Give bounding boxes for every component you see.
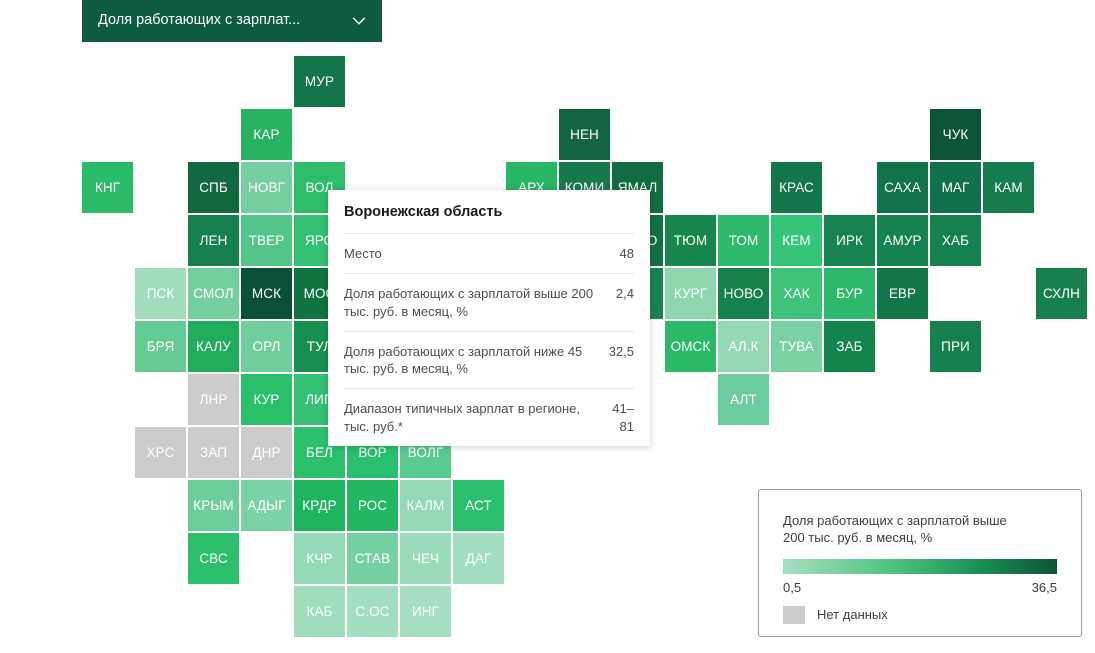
region-tile-label: СХЛН [1043,286,1080,301]
region-tile-КНГ[interactable]: КНГ [82,162,133,213]
region-tile-ПСК[interactable]: ПСК [135,268,186,319]
region-tile-АМУР[interactable]: АМУР [877,215,928,266]
region-tile-КАБ[interactable]: КАБ [294,586,345,637]
region-tile-label: С.ОС [355,604,389,619]
tooltip-row: Место48 [344,233,634,273]
region-tile-label: КАР [253,127,279,142]
legend-min-value: 0,5 [783,580,801,595]
region-tile-ТВЕР[interactable]: ТВЕР [241,215,292,266]
region-tile-label: ПРИ [941,339,970,354]
region-tile-label: ИРК [836,233,863,248]
region-tile-МАГ[interactable]: МАГ [930,162,981,213]
region-tile-label: БЕЛ [306,445,333,460]
region-tile-БРЯ[interactable]: БРЯ [135,321,186,372]
tooltip-row-key: Доля работающих с зарплатой выше 200 тыс… [344,285,604,320]
region-tile-label: КРЫМ [193,498,233,513]
region-tile-КАМ[interactable]: КАМ [983,162,1034,213]
region-tile-label: КРАС [779,180,814,195]
region-tile-label: ВОР [358,445,386,460]
region-tile-ХАБ[interactable]: ХАБ [930,215,981,266]
region-tile-ЧУК[interactable]: ЧУК [930,109,981,160]
region-tile-КУР[interactable]: КУР [241,374,292,425]
region-tile-АСТ[interactable]: АСТ [453,480,504,531]
region-tile-КЕМ[interactable]: КЕМ [771,215,822,266]
region-tile-label: МУР [305,74,334,89]
region-tile-ТУВА[interactable]: ТУВА [771,321,822,372]
region-tile-label: СВС [199,551,227,566]
region-tile-label: ПСК [147,286,175,301]
region-tile-НЕН[interactable]: НЕН [559,109,610,160]
tilemap-page: Доля работающих с зарплат... МУРНЕНЧУККА… [0,0,1095,653]
tooltip-rows: Место48Доля работающих с зарплатой выше … [344,233,634,446]
region-tile-СВС[interactable]: СВС [188,533,239,584]
region-tile-label: МАГ [942,180,970,195]
region-tile-ХРС[interactable]: ХРС [135,427,186,478]
region-tile-ХАК[interactable]: ХАК [771,268,822,319]
region-tile-label: КАЛУ [196,339,231,354]
region-tile-label: ТВЕР [249,233,285,248]
region-tile-КАЛМ[interactable]: КАЛМ [400,480,451,531]
region-tile-ЗАБ[interactable]: ЗАБ [824,321,875,372]
region-tile-label: БРЯ [147,339,175,354]
region-tile-ОМСК[interactable]: ОМСК [665,321,716,372]
legend-title: Доля работающих с зарплатой выше 200 тыс… [783,512,1057,547]
tooltip-row: Доля работающих с зарплатой выше 200 тыс… [344,273,634,331]
region-tile-НОВО[interactable]: НОВО [718,268,769,319]
legend-max-value: 36,5 [1032,580,1057,595]
region-tile-label: МСК [252,286,281,301]
region-tile-label: КЧР [306,551,332,566]
region-tile-ИРК[interactable]: ИРК [824,215,875,266]
region-tile-label: СМОЛ [193,286,233,301]
region-tile-label: ХРС [147,445,175,460]
region-tile-label: АДЫГ [247,498,285,513]
region-tile-КЧР[interactable]: КЧР [294,533,345,584]
region-tile-СТАВ[interactable]: СТАВ [347,533,398,584]
tooltip-row-value: 41– 81 [612,400,634,435]
region-tile-label: АЛТ [730,392,757,407]
region-tile-label: НОВО [724,286,764,301]
region-tile-СМОЛ[interactable]: СМОЛ [188,268,239,319]
map-legend: Доля работающих с зарплатой выше 200 тыс… [758,489,1082,637]
region-tile-label: ВОЛГ [408,445,443,460]
region-tile-МУР[interactable]: МУР [294,56,345,107]
region-tile-label: КЕМ [782,233,810,248]
tooltip-row-key: Диапазон типичных зарплат в регионе, тыс… [344,400,600,435]
region-tile-label: НЕН [570,127,599,142]
region-tile-ОРЛ[interactable]: ОРЛ [241,321,292,372]
region-tile-label: ЧЕЧ [412,551,439,566]
region-tile-ТЮМ[interactable]: ТЮМ [665,215,716,266]
tooltip-title: Воронежская область [344,190,634,233]
region-tile-ДАГ[interactable]: ДАГ [453,533,504,584]
region-tile-label: ТОМ [729,233,759,248]
legend-nodata-row: Нет данных [783,606,1057,624]
region-tile-label: РОС [358,498,387,513]
legend-nodata-label: Нет данных [817,607,888,622]
region-tile-label: ЧУК [943,127,969,142]
region-tile-label: КНГ [95,180,120,195]
region-tile-label: КУРГ [674,286,707,301]
tooltip-row: Диапазон типичных зарплат в регионе, тыс… [344,388,634,446]
region-tile-ЛНР[interactable]: ЛНР [188,374,239,425]
region-tile-label: ЗАП [200,445,227,460]
region-tile-МСК[interactable]: МСК [241,268,292,319]
region-tile-label: ДНР [252,445,280,460]
region-tile-КРАС[interactable]: КРАС [771,162,822,213]
region-tile-label: КАЛМ [407,498,445,513]
region-tile-ЗАП[interactable]: ЗАП [188,427,239,478]
region-tile-СПБ[interactable]: СПБ [188,162,239,213]
region-tile-ИНГ[interactable]: ИНГ [400,586,451,637]
region-tile-label: ЛНР [200,392,228,407]
tooltip-row-value: 2,4 [616,285,634,302]
region-tile-НОВГ[interactable]: НОВГ [241,162,292,213]
region-tile-ЛЕН[interactable]: ЛЕН [188,215,239,266]
region-tile-label: ОРЛ [253,339,281,354]
region-tile-ДНР[interactable]: ДНР [241,427,292,478]
region-tile-label: ХАБ [942,233,969,248]
tooltip-row-key: Место [344,245,608,262]
region-tile-label: СПБ [199,180,228,195]
region-tile-label: ТУВА [779,339,814,354]
region-tile-СХЛН[interactable]: СХЛН [1036,268,1087,319]
region-tile-ТОМ[interactable]: ТОМ [718,215,769,266]
legend-scale: 0,5 36,5 [783,580,1057,595]
region-tile-label: ОМСК [671,339,711,354]
region-tooltip: Воронежская область Место48Доля работающ… [328,190,650,446]
region-tile-КАР[interactable]: КАР [241,109,292,160]
region-tile-АЛ.К[interactable]: АЛ.К [718,321,769,372]
region-tile-КАЛУ[interactable]: КАЛУ [188,321,239,372]
region-tile-label: ХАК [783,286,809,301]
tooltip-row-key: Доля работающих с зарплатой ниже 45 тыс.… [344,343,597,378]
region-tile-label: КРДР [302,498,337,513]
region-tile-label: АЛ.К [728,339,758,354]
region-tile-КРЫМ[interactable]: КРЫМ [188,480,239,531]
region-tile-КУРГ[interactable]: КУРГ [665,268,716,319]
region-tile-label: НОВГ [248,180,285,195]
region-tile-БУР[interactable]: БУР [824,268,875,319]
region-tile-label: ЛЕН [200,233,228,248]
region-tile-label: ТЮМ [674,233,707,248]
region-tile-САХА[interactable]: САХА [877,162,928,213]
region-tile-label: ДАГ [466,551,492,566]
region-tile-С.ОС[interactable]: С.ОС [347,586,398,637]
region-tile-label: БУР [836,286,862,301]
region-tile-label: КАБ [306,604,332,619]
region-tile-РОС[interactable]: РОС [347,480,398,531]
region-tile-label: СТАВ [355,551,391,566]
region-tile-АЛТ[interactable]: АЛТ [718,374,769,425]
region-tile-ПРИ[interactable]: ПРИ [930,321,981,372]
region-tile-label: КУР [254,392,280,407]
region-tile-label: ЕВР [889,286,916,301]
region-tile-label: ИНГ [412,604,439,619]
region-tile-label: КАМ [994,180,1022,195]
region-tile-ЕВР[interactable]: ЕВР [877,268,928,319]
region-tile-ЧЕЧ[interactable]: ЧЕЧ [400,533,451,584]
tooltip-row-value: 48 [620,245,634,262]
region-tile-КРДР[interactable]: КРДР [294,480,345,531]
tooltip-row: Доля работающих с зарплатой ниже 45 тыс.… [344,331,634,389]
region-tile-label: ЗАБ [836,339,862,354]
region-tile-label: АСТ [465,498,492,513]
region-tile-label: САХА [884,180,921,195]
legend-color-ramp [783,559,1057,574]
legend-nodata-swatch [783,606,805,624]
region-tile-label: АМУР [883,233,921,248]
tooltip-row-value: 32,5 [609,343,634,360]
region-tile-АДЫГ[interactable]: АДЫГ [241,480,292,531]
